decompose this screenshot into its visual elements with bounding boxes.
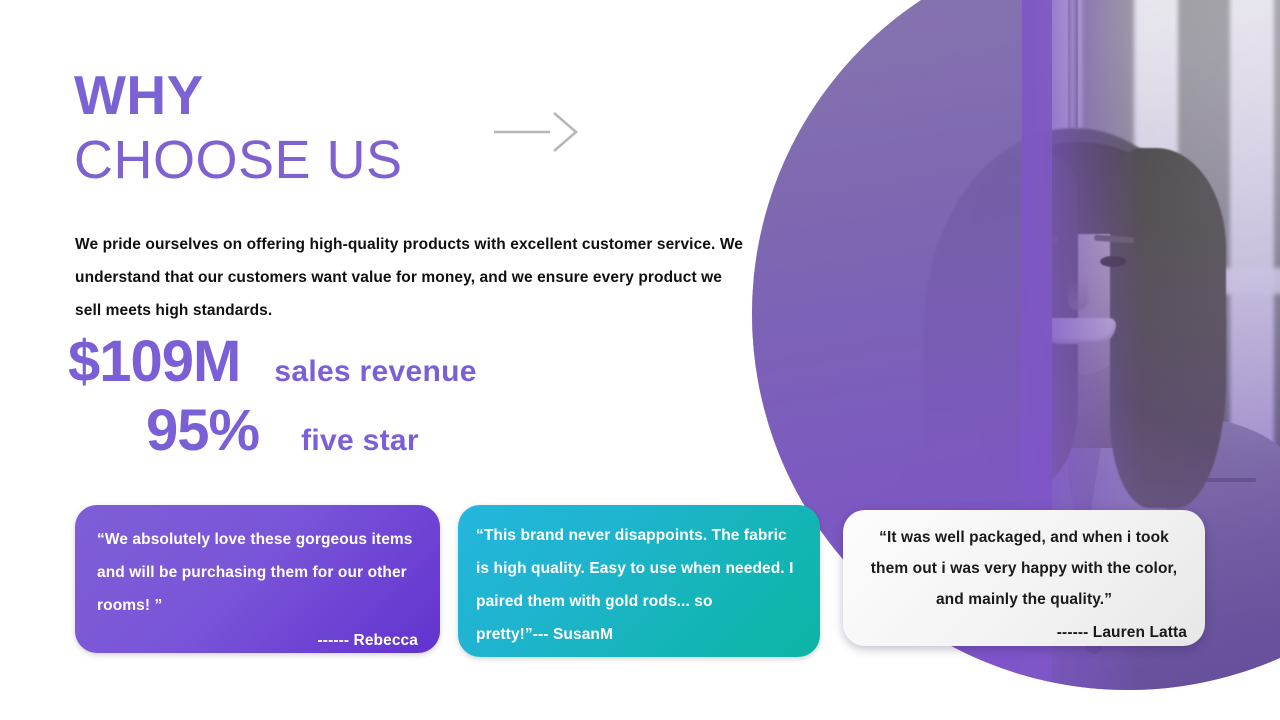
stat-five-star: 95% five star xyxy=(146,401,668,462)
stat-sales-revenue: $109M sales revenue xyxy=(68,332,668,393)
page-title-line-1: WHY xyxy=(74,68,403,123)
testimonial-attribution: ------ Lauren Latta xyxy=(861,617,1187,648)
testimonial-quote: “This brand never disappoints. The fabri… xyxy=(476,527,794,643)
stats-group: $109M sales revenue 95% five star xyxy=(68,332,668,462)
stat-value-five-star: 95% xyxy=(146,401,259,462)
testimonial-attribution: ------ Rebecca xyxy=(97,624,418,657)
page-title: WHY CHOOSE US xyxy=(74,68,403,187)
testimonial-quote: “We absolutely love these gorgeous items… xyxy=(97,531,413,614)
stat-value-sales-revenue: $109M xyxy=(68,332,240,393)
intro-paragraph: We pride ourselves on offering high-qual… xyxy=(75,228,747,327)
arrow-right-icon xyxy=(492,110,584,152)
stat-label-five-star: five star xyxy=(301,424,419,458)
slide-canvas: WHY CHOOSE US We pride ourselves on offe… xyxy=(0,0,1280,720)
testimonial-card-purple: “We absolutely love these gorgeous items… xyxy=(75,505,440,653)
testimonial-card-teal: “This brand never disappoints. The fabri… xyxy=(458,505,820,657)
testimonial-attribution: --- SusanM xyxy=(533,626,613,643)
testimonial-quote: “It was well packaged, and when i took t… xyxy=(871,529,1177,608)
page-title-line-2: CHOOSE US xyxy=(74,133,403,187)
stat-label-sales-revenue: sales revenue xyxy=(274,355,476,389)
testimonial-card-white: “It was well packaged, and when i took t… xyxy=(843,510,1205,646)
